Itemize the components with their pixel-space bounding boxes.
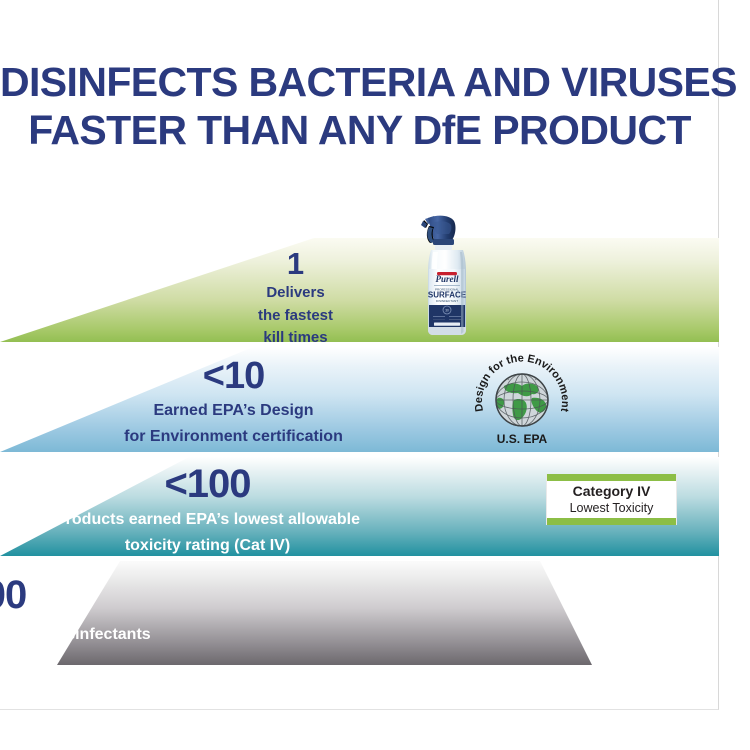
tier-4-text: ~3,000 EPA Registered Surface Sanitizers… xyxy=(0,575,327,645)
svg-text:30: 30 xyxy=(445,309,449,313)
tier-3-text: <100 Products earned EPA’s lowest allowa… xyxy=(0,464,567,556)
infographic-poster: DISINFECTS BACTERIA AND VIRUSES FASTER T… xyxy=(0,0,750,750)
pyramid-tier-1: 1 Delivers the fastest kill times xyxy=(0,238,719,342)
tier-1-description-line-2: the fastest xyxy=(0,307,655,325)
globe-icon: Design for the Environment U.S. EPA xyxy=(470,352,574,450)
tier-1-value: 1 xyxy=(0,248,655,279)
badge-subtitle: Lowest Toxicity xyxy=(547,500,676,516)
svg-text:Purell: Purell xyxy=(435,274,459,284)
badge-body: Category IV Lowest Toxicity xyxy=(547,481,676,518)
pyramid-chart: 1 Delivers the fastest kill times <10 Ea… xyxy=(0,0,719,710)
tier-1-description-line-1: Delivers xyxy=(0,284,655,302)
status-badge: Category IV Lowest Toxicity xyxy=(546,474,677,525)
pyramid-tier-2: <10 Earned EPA’s Design for Environment … xyxy=(0,347,719,452)
tier-3-description-line-2: toxicity rating (Cat IV) xyxy=(0,537,567,556)
badge-title: Category IV xyxy=(547,483,676,500)
tier-4-value: ~3,000 xyxy=(0,575,327,615)
dfe-bottom-text: U.S. EPA xyxy=(497,432,548,446)
tier-3-value: <100 xyxy=(0,464,567,504)
tier-4-description-line-1: EPA Registered Surface Sanitizers/Disinf… xyxy=(0,626,327,645)
svg-text:DISINFECTANT: DISINFECTANT xyxy=(436,299,458,303)
tier-1-text: 1 Delivers the fastest kill times xyxy=(0,248,655,347)
pyramid-tier-4: ~3,000 EPA Registered Surface Sanitizers… xyxy=(0,561,719,665)
spray-bottle-icon: Purell PROFESSIONAL SURFACE DISINFECTANT… xyxy=(404,206,478,338)
badge-bottom-bar xyxy=(547,518,676,525)
tier-1-description-line-3: kill times xyxy=(0,329,655,347)
tier-3-description-line-1: Products earned EPA’s lowest allowable xyxy=(0,511,567,530)
badge-top-bar xyxy=(547,474,676,481)
